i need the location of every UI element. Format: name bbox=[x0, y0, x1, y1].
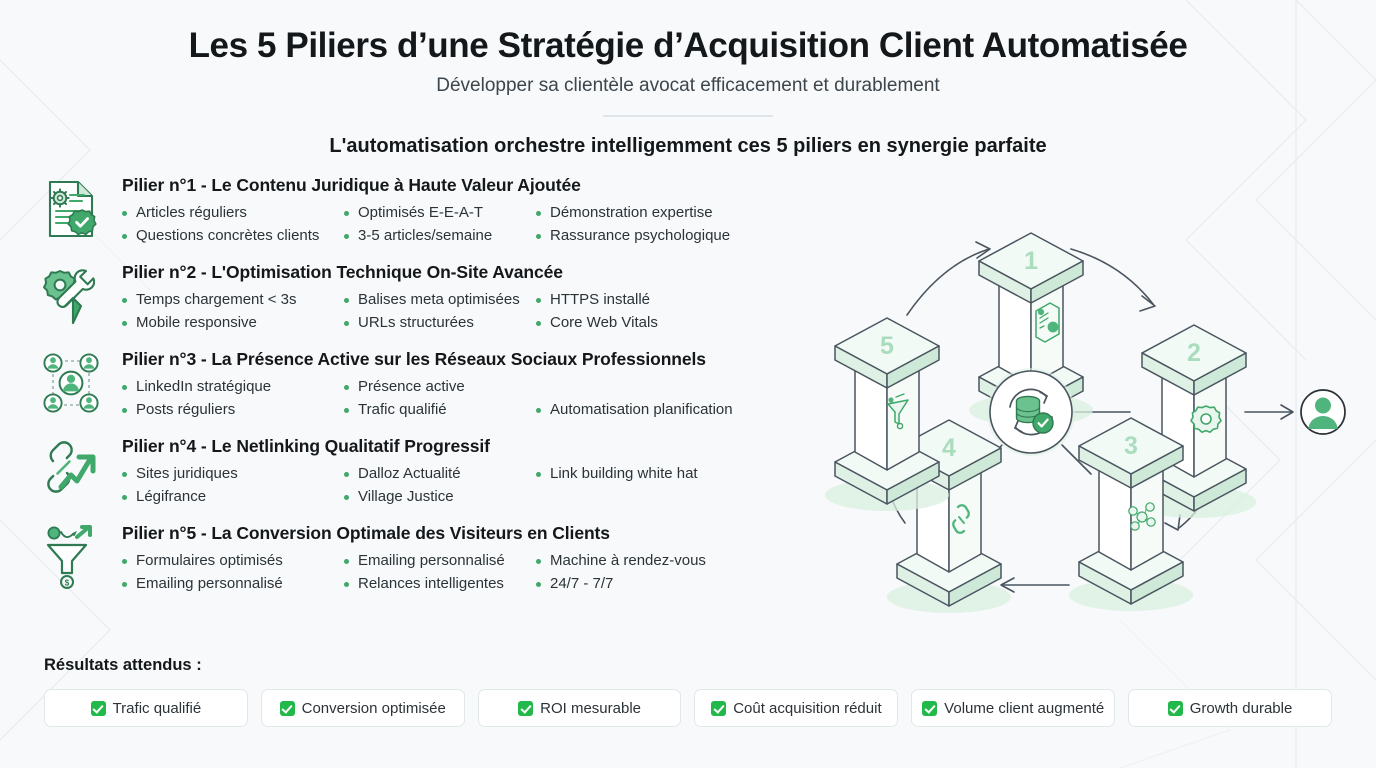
document-content-icon bbox=[1036, 303, 1059, 342]
pillar-item-label: Sites juridiques bbox=[136, 464, 238, 484]
bullet-dot bbox=[344, 559, 349, 564]
pillar-item-label: Core Web Vitals bbox=[550, 313, 658, 333]
pillar-item-label: URLs structurées bbox=[358, 313, 474, 333]
pillar-item: LinkedIn stratégique bbox=[122, 377, 344, 397]
pillar-item-label: 3-5 articles/semaine bbox=[358, 226, 492, 246]
results-title: Résultats attendus : bbox=[44, 656, 1332, 675]
pillar-item: Dalloz Actualité bbox=[344, 464, 536, 484]
diagram-pillar-number-5: 5 bbox=[880, 332, 894, 360]
pillar-item: Temps chargement < 3s bbox=[122, 290, 344, 310]
pillar-item-label: Relances intelligentes bbox=[358, 574, 504, 594]
header: Les 5 Piliers d’une Stratégie d’Acquisit… bbox=[0, 0, 1376, 158]
bullet-dot bbox=[122, 321, 127, 326]
pillar-item: URLs structurées bbox=[344, 313, 536, 333]
check-icon bbox=[922, 701, 937, 716]
pillar-item: Rassurance psychologique bbox=[536, 226, 816, 246]
pillar-item-label: Démonstration expertise bbox=[550, 203, 713, 223]
bullet-dot bbox=[122, 408, 127, 413]
page-title: Les 5 Piliers d’une Stratégie d’Acquisit… bbox=[0, 26, 1376, 65]
bullet-dot bbox=[344, 472, 349, 477]
pillars-column: Pilier n°1 - Le Contenu Juridique à Haut… bbox=[0, 172, 822, 627]
bullet-dot bbox=[122, 472, 127, 477]
pillar-title-2: Pilier n°2 - L'Optimisation Technique On… bbox=[122, 262, 816, 283]
pillar-body-4: Pilier n°4 - Le Netlinking Qualitatif Pr… bbox=[102, 433, 816, 508]
result-chip-label: Growth durable bbox=[1190, 700, 1293, 717]
pillar-body-2: Pilier n°2 - L'Optimisation Technique On… bbox=[102, 259, 816, 334]
section-lead: L'automatisation orchestre intelligemmen… bbox=[0, 135, 1376, 158]
pillar-item: Balises meta optimisées bbox=[344, 290, 536, 310]
bullet-dot bbox=[344, 385, 349, 390]
pillar-item-label: Rassurance psychologique bbox=[550, 226, 730, 246]
arrow-5-to-1 bbox=[907, 242, 990, 315]
check-icon bbox=[518, 701, 533, 716]
pillar-title-4: Pilier n°4 - Le Netlinking Qualitatif Pr… bbox=[122, 436, 816, 457]
pillar-item: Articles réguliers bbox=[122, 203, 344, 223]
pillar-item-label: Emailing personnalisé bbox=[358, 551, 505, 571]
bullet-dot bbox=[536, 385, 541, 390]
pillar-body-1: Pilier n°1 - Le Contenu Juridique à Haut… bbox=[102, 172, 816, 247]
pillar-item-label: 24/7 - 7/7 bbox=[550, 574, 613, 594]
bullet-dot bbox=[122, 298, 127, 303]
pillar-title-5: Pilier n°5 - La Conversion Optimale des … bbox=[122, 523, 816, 544]
header-divider bbox=[603, 115, 773, 117]
infographic-page: Les 5 Piliers d’une Stratégie d’Acquisit… bbox=[0, 0, 1376, 768]
pillar-row-1: Pilier n°1 - Le Contenu Juridique à Haut… bbox=[40, 172, 816, 259]
body-split: Pilier n°1 - Le Contenu Juridique à Haut… bbox=[0, 172, 1376, 627]
bullet-dot bbox=[536, 408, 541, 413]
bullet-dot bbox=[536, 321, 541, 326]
diagram-column: 1 2 bbox=[822, 172, 1376, 627]
pillar-item-label: Emailing personnalisé bbox=[136, 574, 283, 594]
social-network-users-icon bbox=[40, 346, 102, 418]
bullet-dot bbox=[536, 495, 541, 500]
pillar-items-2: Temps chargement < 3s Balises meta optim… bbox=[122, 290, 816, 334]
bullet-dot bbox=[344, 321, 349, 326]
pillar-item: Posts réguliers bbox=[122, 400, 344, 420]
pillar-item-label: Trafic qualifié bbox=[358, 400, 447, 420]
wrench-gear-arrow-icon bbox=[40, 259, 102, 331]
result-chip-label: ROI mesurable bbox=[540, 700, 641, 717]
pillar-item: Trafic qualifié bbox=[344, 400, 536, 420]
pillar-item: Automatisation planification bbox=[536, 400, 816, 420]
pillar-item: Formulaires optimisés bbox=[122, 551, 344, 571]
result-chip-label: Coût acquisition réduit bbox=[733, 700, 881, 717]
pillar-cycle-diagram: 1 2 bbox=[822, 172, 1376, 632]
chain-link-growth-arrow-icon bbox=[40, 433, 102, 505]
pillar-item-empty bbox=[536, 487, 816, 507]
arrow-to-user bbox=[1245, 405, 1293, 419]
bullet-dot bbox=[344, 408, 349, 413]
result-chip-label: Conversion optimisée bbox=[302, 700, 446, 717]
bullet-dot bbox=[344, 582, 349, 587]
pillar-item: HTTPS installé bbox=[536, 290, 816, 310]
pillar-item-label: Link building white hat bbox=[550, 464, 698, 484]
pillar-item-label: Automatisation planification bbox=[550, 400, 733, 420]
pillar-item: Machine à rendez-vous bbox=[536, 551, 816, 571]
pillar-item: 3-5 articles/semaine bbox=[344, 226, 536, 246]
bullet-dot bbox=[536, 234, 541, 239]
bullet-dot bbox=[122, 495, 127, 500]
bullet-dot bbox=[536, 559, 541, 564]
results-chip-list: Trafic qualifié Conversion optimisée ROI… bbox=[44, 689, 1332, 727]
pillar-item: Core Web Vitals bbox=[536, 313, 816, 333]
pillar-item-label: Posts réguliers bbox=[136, 400, 235, 420]
pillar-items-4: Sites juridiques Dalloz Actualité Link b… bbox=[122, 464, 816, 508]
pillar-title-3: Pilier n°3 - La Présence Active sur les … bbox=[122, 349, 816, 370]
bullet-dot bbox=[536, 472, 541, 477]
pillar-row-2: Pilier n°2 - L'Optimisation Technique On… bbox=[40, 259, 816, 346]
pillar-body-5: Pilier n°5 - La Conversion Optimale des … bbox=[102, 520, 816, 595]
pillar-item-label: Mobile responsive bbox=[136, 313, 257, 333]
pillar-row-3: Pilier n°3 - La Présence Active sur les … bbox=[40, 346, 816, 433]
bullet-dot bbox=[536, 298, 541, 303]
arrow-1-to-2 bbox=[1071, 249, 1155, 311]
diagram-pillar-number-4: 4 bbox=[942, 434, 956, 462]
pillar-item: Village Justice bbox=[344, 487, 536, 507]
pillar-row-5: $ Pilier n°5 - La Conversion Optimale de… bbox=[40, 520, 816, 607]
bullet-dot bbox=[536, 582, 541, 587]
results-section: Résultats attendus : Trafic qualifié Con… bbox=[0, 656, 1376, 727]
document-gear-check-icon bbox=[40, 172, 102, 244]
pillar-row-4: Pilier n°4 - Le Netlinking Qualitatif Pr… bbox=[40, 433, 816, 520]
pillar-item-label: Balises meta optimisées bbox=[358, 290, 520, 310]
bullet-dot bbox=[122, 211, 127, 216]
check-icon bbox=[1168, 701, 1183, 716]
bullet-dot bbox=[344, 234, 349, 239]
bullet-dot bbox=[344, 298, 349, 303]
check-icon bbox=[91, 701, 106, 716]
result-chip[interactable]: Conversion optimisée bbox=[261, 689, 465, 727]
automation-hub bbox=[987, 368, 1075, 456]
result-chip[interactable]: Growth durable bbox=[1128, 689, 1332, 727]
check-icon bbox=[711, 701, 726, 716]
user-avatar-icon bbox=[1301, 390, 1345, 434]
pillar-item: Mobile responsive bbox=[122, 313, 344, 333]
result-chip[interactable]: Volume client augmenté bbox=[911, 689, 1115, 727]
check-icon bbox=[280, 701, 295, 716]
pillar-item: Link building white hat bbox=[536, 464, 816, 484]
diagram-pillar-number-2: 2 bbox=[1187, 339, 1201, 367]
bullet-dot bbox=[122, 582, 127, 587]
pillar-item: Présence active bbox=[344, 377, 536, 397]
pillar-items-5: Formulaires optimisés Emailing personnal… bbox=[122, 551, 816, 595]
result-chip-label: Volume client augmenté bbox=[944, 700, 1104, 717]
pillar-item-label: Articles réguliers bbox=[136, 203, 247, 223]
pillar-item: Relances intelligentes bbox=[344, 574, 536, 594]
pillar-item: Emailing personnalisé bbox=[344, 551, 536, 571]
pillar-title-1: Pilier n°1 - Le Contenu Juridique à Haut… bbox=[122, 175, 816, 196]
conversion-funnel-icon: $ bbox=[40, 520, 102, 592]
pillar-item-label: LinkedIn stratégique bbox=[136, 377, 271, 397]
pillar-item: Sites juridiques bbox=[122, 464, 344, 484]
result-chip[interactable]: Trafic qualifié bbox=[44, 689, 248, 727]
bullet-dot bbox=[122, 385, 127, 390]
pillar-item-label: Temps chargement < 3s bbox=[136, 290, 297, 310]
pillar-item-empty bbox=[536, 377, 816, 397]
pillar-item: 24/7 - 7/7 bbox=[536, 574, 816, 594]
pillar-item-label: Légifrance bbox=[136, 487, 206, 507]
pillar-item-label: Présence active bbox=[358, 377, 465, 397]
pillar-item-label: Formulaires optimisés bbox=[136, 551, 283, 571]
diagram-pillar-number-3: 3 bbox=[1124, 432, 1138, 460]
pillar-item: Optimisés E-E-A-T bbox=[344, 203, 536, 223]
pillar-body-3: Pilier n°3 - La Présence Active sur les … bbox=[102, 346, 816, 421]
arrow-3-to-4 bbox=[1001, 578, 1069, 592]
pillar-item: Questions concrètes clients bbox=[122, 226, 344, 246]
result-chip[interactable]: Coût acquisition réduit bbox=[694, 689, 898, 727]
bullet-dot bbox=[122, 559, 127, 564]
page-subtitle: Développer sa clientèle avocat efficacem… bbox=[0, 75, 1376, 97]
result-chip-label: Trafic qualifié bbox=[113, 700, 202, 717]
diagram-pillar-number-1: 1 bbox=[1024, 247, 1038, 275]
pillar-item: Démonstration expertise bbox=[536, 203, 816, 223]
bullet-dot bbox=[344, 495, 349, 500]
bullet-dot bbox=[536, 211, 541, 216]
svg-text:$: $ bbox=[65, 579, 70, 588]
pillar-item: Emailing personnalisé bbox=[122, 574, 344, 594]
result-chip[interactable]: ROI mesurable bbox=[478, 689, 682, 727]
bullet-dot bbox=[344, 211, 349, 216]
pillar-item: Légifrance bbox=[122, 487, 344, 507]
pillar-item-label: Machine à rendez-vous bbox=[550, 551, 706, 571]
pillar-item-label: Questions concrètes clients bbox=[136, 226, 319, 246]
bullet-dot bbox=[122, 234, 127, 239]
pillar-item-label: Optimisés E-E-A-T bbox=[358, 203, 483, 223]
gear-technical-icon bbox=[1191, 406, 1221, 432]
pillar-items-3: LinkedIn stratégique Présence active Pos… bbox=[122, 377, 816, 421]
pillar-item-label: Dalloz Actualité bbox=[358, 464, 461, 484]
pillar-item-label: HTTPS installé bbox=[550, 290, 650, 310]
pillar-item-label: Village Justice bbox=[358, 487, 454, 507]
pillar-items-1: Articles réguliers Optimisés E-E-A-T Dém… bbox=[122, 203, 816, 247]
